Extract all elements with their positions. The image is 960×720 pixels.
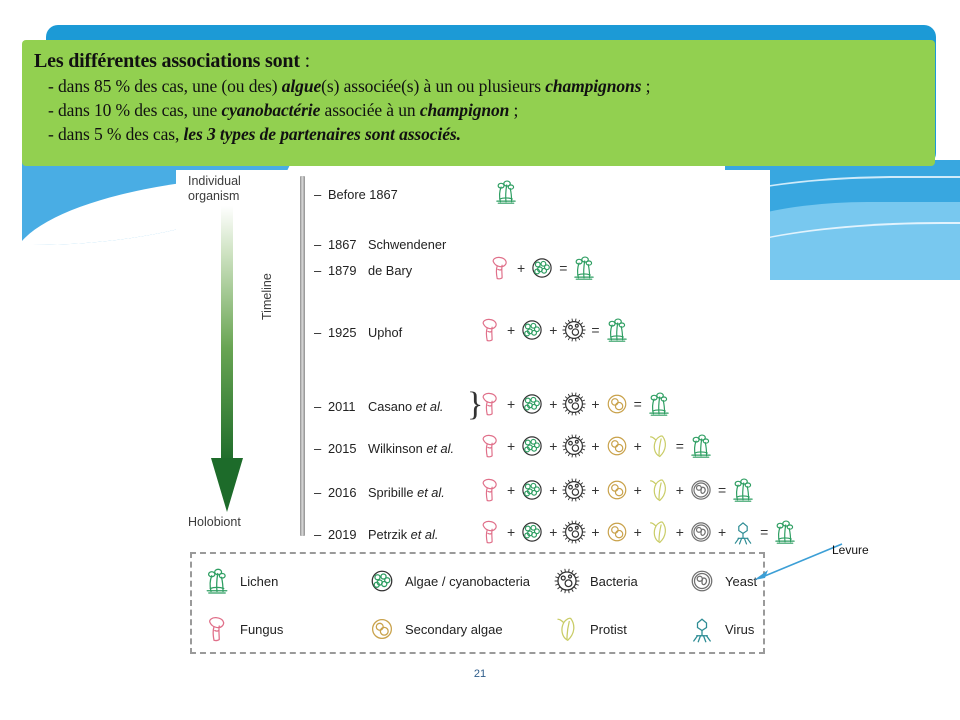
plus-sign: + [591, 438, 599, 454]
fungus-icon [476, 316, 504, 344]
row-dash: – [314, 399, 328, 414]
algae-icon [528, 254, 556, 282]
plus-sign: + [549, 438, 557, 454]
callout-text-segment: - dans 5 % des cas, [48, 124, 184, 144]
callout-text-segment: champignon [420, 100, 509, 120]
plus-sign: + [718, 524, 726, 540]
callout-title-bold: Les différentes associations sont [34, 50, 300, 72]
plus-sign: + [591, 396, 599, 412]
timeline-equation: +++++= [476, 476, 757, 504]
callout-text-segment: algue [282, 76, 321, 96]
secondary-algae-icon [603, 476, 631, 504]
row-dash: – [314, 527, 328, 542]
lichen-icon [570, 254, 598, 282]
bacteria-icon [560, 518, 588, 546]
legend-item: Secondary algae [367, 605, 552, 653]
callout-text-segment: ; [509, 100, 518, 120]
row-year: 1879 [328, 263, 368, 278]
plus-sign: + [507, 524, 515, 540]
row-dash: – [314, 237, 328, 252]
callout-text-segment: - dans 85 % des cas, une (ou des) [48, 76, 282, 96]
row-author: Spribille et al. [368, 485, 445, 500]
plus-sign: + [549, 482, 557, 498]
fungus-icon [476, 432, 504, 460]
timeline-equation: +++= [476, 390, 673, 418]
legend-grid: LichenAlgae / cyanobacteriaBacteriaYeast… [192, 554, 763, 653]
timeline-equation: += [486, 254, 598, 282]
algae-icon [367, 566, 397, 596]
timeline-row: –1867Schwendener [314, 230, 446, 258]
row-author: de Bary [368, 263, 412, 278]
row-author: Petrzik et al. [368, 527, 438, 542]
row-author: Uphof [368, 325, 402, 340]
callout-text-segment: - dans 10 % des cas, une [48, 100, 221, 120]
row-author: Wilkinson et al. [368, 441, 454, 456]
bacteria-icon [552, 566, 582, 596]
callout-text-segment: cyanobactérie [221, 100, 320, 120]
callout-box: Les différentes associations sont : - da… [22, 40, 935, 166]
row-dash: – [314, 485, 328, 500]
plus-sign: + [549, 396, 557, 412]
secondary-algae-icon [367, 614, 397, 644]
callout-text-segment: les 3 types de partenaires sont associés… [184, 124, 461, 144]
legend-item-label: Bacteria [590, 574, 638, 589]
plus-sign: + [634, 482, 642, 498]
timeline-row: –1879de Bary [314, 256, 412, 284]
timeline-row: –Before 1867 [314, 180, 418, 208]
row-author: Casano et al. [368, 399, 443, 414]
yeast-icon [687, 518, 715, 546]
plus-sign: + [517, 260, 525, 276]
callout-line-5: - dans 5 % des cas, les 3 types de parte… [48, 124, 935, 145]
plus-sign: + [676, 524, 684, 540]
timeline-figure: Individual organism Holobiont Timeline }… [176, 170, 770, 548]
slide-canvas: Les différentes associations sont : - da… [0, 0, 960, 720]
timeline-equation [492, 178, 520, 206]
plus-sign: + [507, 482, 515, 498]
green-gradient-arrow-icon [210, 206, 244, 518]
timeline-axis-bar [300, 176, 305, 536]
row-dash: – [314, 441, 328, 456]
plus-sign: + [549, 524, 557, 540]
row-year: 2011 [328, 399, 368, 414]
legend-item: Algae / cyanobacteria [367, 557, 552, 605]
lichen-icon [645, 390, 673, 418]
row-year: 2015 [328, 441, 368, 456]
legend-item: Protist [552, 605, 687, 653]
algae-icon [518, 316, 546, 344]
legend-item: Virus [687, 605, 797, 653]
lichen-icon [492, 178, 520, 206]
timeline-row: –2011Casano et al. [314, 392, 443, 420]
bacteria-icon [560, 476, 588, 504]
yeast-icon [687, 476, 715, 504]
legend-item-label: Fungus [240, 622, 283, 637]
callout-line-85: - dans 85 % des cas, une (ou des) algue(… [48, 76, 935, 97]
secondary-algae-icon [603, 518, 631, 546]
legend-item-label: Algae / cyanobacteria [405, 574, 530, 589]
secondary-algae-icon [603, 390, 631, 418]
plus-sign: + [676, 482, 684, 498]
legend-item-label: Secondary algae [405, 622, 503, 637]
equals-sign: = [676, 438, 684, 454]
row-year: Before 1867 [328, 187, 418, 202]
callout-text-segment: (s) associée(s) à un ou plusieurs [321, 76, 545, 96]
row-year: 2019 [328, 527, 368, 542]
row-year: 1867 [328, 237, 368, 252]
legend-item-label: Lichen [240, 574, 278, 589]
lichen-icon [687, 432, 715, 460]
row-year: 1925 [328, 325, 368, 340]
row-dash: – [314, 263, 328, 278]
equals-sign: = [718, 482, 726, 498]
protist-icon [552, 614, 582, 644]
callout-text-segment: associée à un [320, 100, 420, 120]
axis-label-individual-organism: Individual organism [188, 174, 268, 204]
yeast-icon [687, 566, 717, 596]
timeline-equation: ++= [476, 316, 631, 344]
callout-line-10: - dans 10 % des cas, une cyanobactérie a… [48, 100, 935, 121]
protist-icon [645, 518, 673, 546]
timeline-equation: ++++= [476, 432, 715, 460]
page-number: 21 [0, 668, 960, 680]
row-dash: – [314, 325, 328, 340]
legend-item-label: Protist [590, 622, 627, 637]
row-dash: – [314, 187, 328, 202]
fungus-icon [476, 476, 504, 504]
callout-text-segment: ; [641, 76, 650, 96]
equals-sign: = [760, 524, 768, 540]
legend-item: Fungus [202, 605, 367, 653]
bacteria-icon [560, 316, 588, 344]
lichen-icon [603, 316, 631, 344]
row-author: Schwendener [368, 237, 446, 252]
fungus-icon [202, 614, 232, 644]
callout-title: Les différentes associations sont : [34, 50, 935, 73]
secondary-algae-icon [603, 432, 631, 460]
algae-icon [518, 476, 546, 504]
lichen-icon [202, 566, 232, 596]
legend-item: Lichen [202, 557, 367, 605]
fungus-icon [486, 254, 514, 282]
bacteria-icon [560, 390, 588, 418]
plus-sign: + [549, 322, 557, 338]
equals-sign: = [559, 260, 567, 276]
equals-sign: = [634, 396, 642, 412]
plus-sign: + [591, 524, 599, 540]
callout-text-segment: champignons [545, 76, 641, 96]
plus-sign: + [634, 524, 642, 540]
timeline-row: –2019Petrzik et al. [314, 520, 438, 548]
legend-box: LichenAlgae / cyanobacteriaBacteriaYeast… [190, 552, 765, 654]
timeline-row: –2015Wilkinson et al. [314, 434, 454, 462]
algae-icon [518, 390, 546, 418]
timeline-row: –2016Spribille et al. [314, 478, 445, 506]
plus-sign: + [591, 482, 599, 498]
legend-item: Bacteria [552, 557, 687, 605]
lichen-icon [729, 476, 757, 504]
protist-icon [645, 432, 673, 460]
plus-sign: + [634, 438, 642, 454]
timeline-row: –1925Uphof [314, 318, 402, 346]
fungus-icon [476, 390, 504, 418]
bacteria-icon [560, 432, 588, 460]
callout-title-tail: : [300, 50, 310, 72]
plus-sign: + [507, 396, 515, 412]
algae-icon [518, 432, 546, 460]
timeline-equation: ++++++= [476, 518, 799, 546]
annotation-label-levure: Levure [832, 543, 869, 557]
algae-icon [518, 518, 546, 546]
equals-sign: = [591, 322, 599, 338]
plus-sign: + [507, 438, 515, 454]
annotation-arrow-icon [752, 540, 844, 582]
timeline-axis-label: Timeline [260, 273, 274, 320]
plus-sign: + [507, 322, 515, 338]
row-year: 2016 [328, 485, 368, 500]
virus-icon [687, 614, 717, 644]
fungus-icon [476, 518, 504, 546]
protist-icon [645, 476, 673, 504]
legend-item-label: Virus [725, 622, 754, 637]
